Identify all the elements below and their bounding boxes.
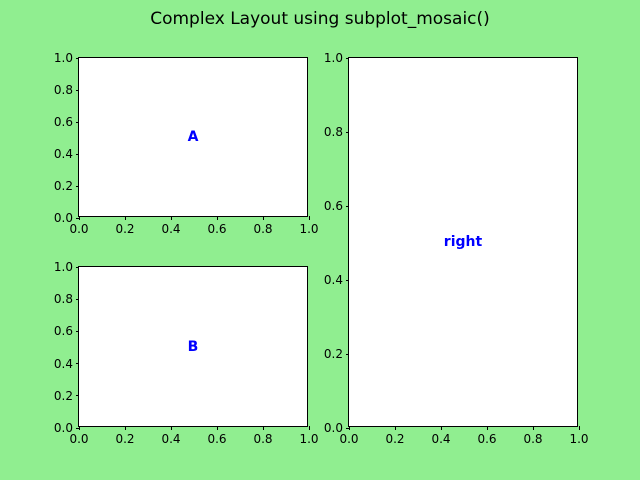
x-tick-label: 0.2: [385, 432, 404, 446]
y-tick-label: 0.4: [54, 147, 73, 161]
axes-panel-right[interactable]: right 0.00.20.40.60.81.00.00.20.40.60.81…: [348, 57, 578, 427]
y-tick-label: 0.0: [324, 421, 343, 435]
x-tick-label: 0.2: [115, 222, 134, 236]
y-tick-mark: [76, 154, 80, 155]
y-tick-mark: [76, 186, 80, 187]
x-tick-mark: [263, 426, 264, 430]
x-tick-mark: [487, 426, 488, 430]
y-tick-mark: [76, 299, 80, 300]
y-tick-label: 0.6: [54, 115, 73, 129]
y-tick-label: 0.4: [324, 273, 343, 287]
y-tick-label: 1.0: [54, 51, 73, 65]
x-tick-label: 0.6: [477, 432, 496, 446]
y-tick-label: 0.6: [54, 324, 73, 338]
x-tick-label: 0.4: [161, 432, 180, 446]
x-tick-mark: [171, 426, 172, 430]
y-tick-label: 0.6: [324, 199, 343, 213]
x-tick-label: 0.8: [253, 432, 272, 446]
x-tick-label: 1.0: [569, 432, 588, 446]
y-tick-label: 0.2: [324, 347, 343, 361]
y-tick-mark: [346, 206, 350, 207]
y-tick-label: 0.0: [54, 421, 73, 435]
x-tick-mark: [263, 216, 264, 220]
y-tick-mark: [346, 58, 350, 59]
x-tick-mark: [309, 426, 310, 430]
y-tick-mark: [76, 218, 80, 219]
x-tick-mark: [309, 216, 310, 220]
y-tick-mark: [346, 428, 350, 429]
page-title: Complex Layout using subplot_mosaic(): [0, 9, 640, 29]
y-tick-mark: [76, 58, 80, 59]
x-tick-label: 1.0: [299, 432, 318, 446]
x-tick-label: 0.4: [161, 222, 180, 236]
axes-panel-a[interactable]: A 0.00.20.40.60.81.00.00.20.40.60.81.0: [78, 57, 308, 217]
x-tick-mark: [533, 426, 534, 430]
x-tick-mark: [217, 216, 218, 220]
y-tick-label: 0.4: [54, 357, 73, 371]
x-tick-label: 1.0: [299, 222, 318, 236]
x-tick-mark: [171, 216, 172, 220]
x-tick-mark: [217, 426, 218, 430]
x-tick-label: 0.6: [207, 222, 226, 236]
x-tick-mark: [125, 216, 126, 220]
y-tick-label: 0.8: [54, 83, 73, 97]
x-tick-label: 0.8: [523, 432, 542, 446]
y-tick-mark: [346, 354, 350, 355]
x-tick-label: 0.6: [207, 432, 226, 446]
y-tick-mark: [346, 132, 350, 133]
y-tick-label: 0.8: [54, 292, 73, 306]
x-tick-label: 0.2: [115, 432, 134, 446]
y-tick-label: 0.0: [54, 211, 73, 225]
axes-panel-b[interactable]: B 0.00.20.40.60.81.00.00.20.40.60.81.0: [78, 266, 308, 427]
x-tick-mark: [441, 426, 442, 430]
x-tick-label: 0.4: [431, 432, 450, 446]
x-tick-label: 0.8: [253, 222, 272, 236]
y-tick-label: 1.0: [54, 260, 73, 274]
y-tick-mark: [76, 395, 80, 396]
y-tick-mark: [346, 280, 350, 281]
y-tick-label: 0.8: [324, 125, 343, 139]
axes-label-a: A: [79, 130, 307, 144]
y-tick-mark: [76, 122, 80, 123]
y-tick-mark: [76, 363, 80, 364]
axes-label-b: B: [79, 340, 307, 354]
y-tick-mark: [76, 90, 80, 91]
figure-canvas: Complex Layout using subplot_mosaic() A …: [0, 0, 640, 480]
axes-label-right: right: [349, 235, 577, 249]
y-tick-label: 0.2: [54, 389, 73, 403]
x-tick-mark: [579, 426, 580, 430]
x-tick-mark: [395, 426, 396, 430]
y-tick-mark: [76, 267, 80, 268]
y-tick-label: 1.0: [324, 51, 343, 65]
x-tick-mark: [125, 426, 126, 430]
y-tick-label: 0.2: [54, 179, 73, 193]
y-tick-mark: [76, 331, 80, 332]
y-tick-mark: [76, 428, 80, 429]
